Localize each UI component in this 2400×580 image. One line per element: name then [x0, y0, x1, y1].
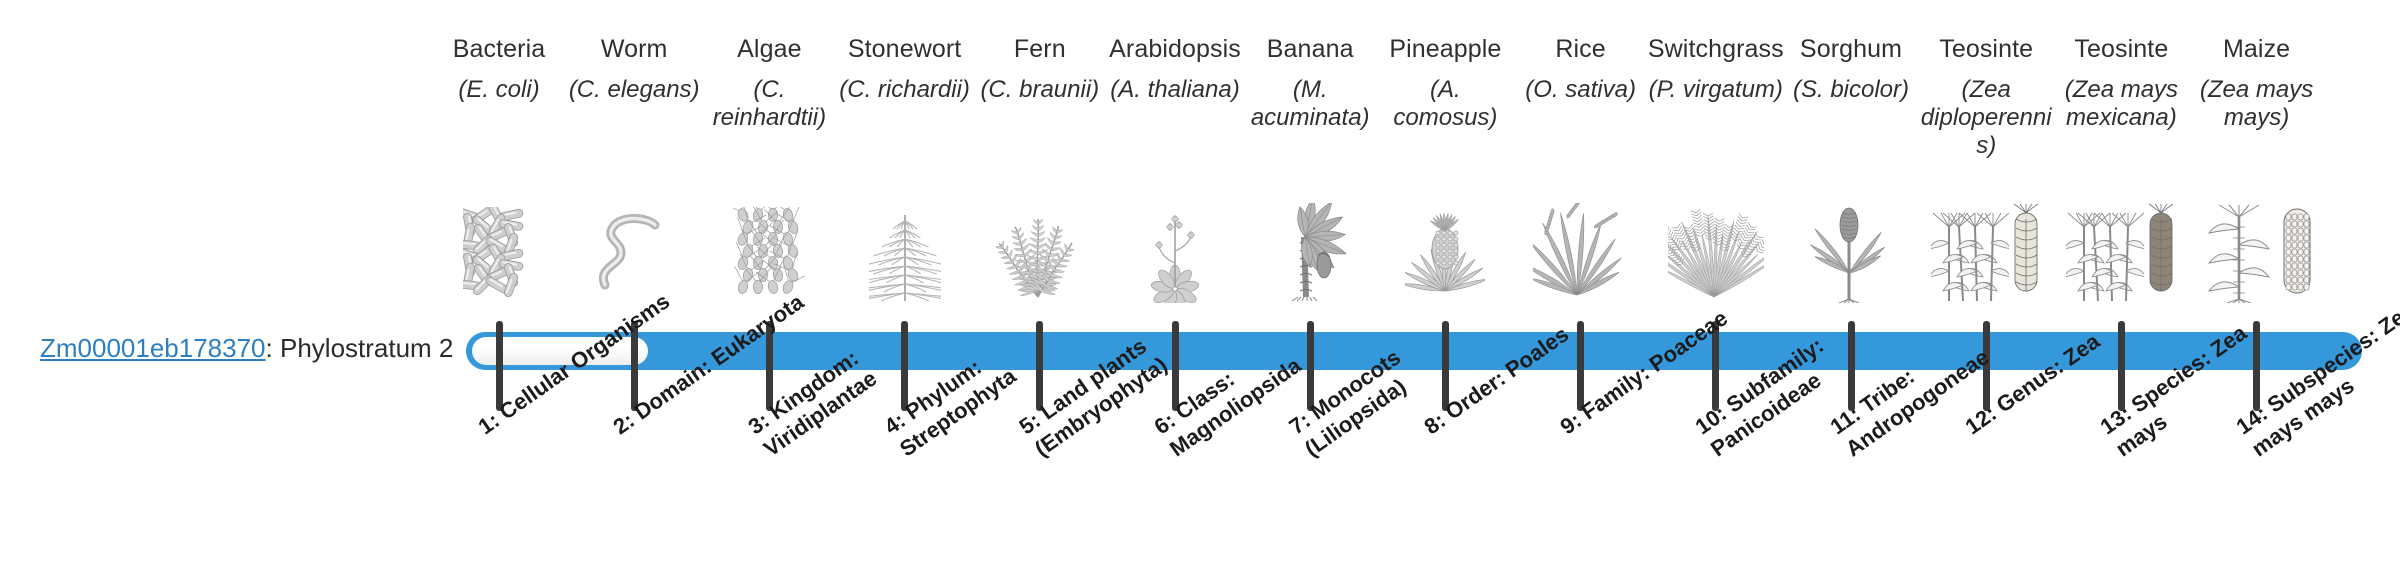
- gene-label-separator: :: [266, 333, 280, 363]
- rice-illustration: [1513, 168, 1649, 303]
- species-header-7: Banana(M. acuminata): [1242, 34, 1378, 132]
- species-header-12: Teosinte(Zea diploperennis): [1918, 34, 2054, 160]
- species-scientific-name: (S. bicolor): [1783, 76, 1919, 104]
- species-common-name: Arabidopsis: [1107, 34, 1243, 64]
- species-header-10: Switchgrass(P. virgatum): [1648, 34, 1784, 104]
- pineapple-illustration: [1377, 168, 1513, 303]
- species-scientific-name: (A. thaliana): [1107, 76, 1243, 104]
- species-common-name: Bacteria: [431, 34, 567, 64]
- species-header-9: Rice(O. sativa): [1513, 34, 1649, 104]
- algae-illustration: [701, 168, 837, 303]
- gene-phylostratum-value: Phylostratum 2: [280, 333, 453, 363]
- species-scientific-name: (M. acuminata): [1242, 76, 1378, 132]
- worm-illustration: [566, 168, 702, 303]
- species-scientific-name: (C. reinhardtii): [701, 76, 837, 132]
- species-header-5: Fern(C. braunii): [972, 34, 1108, 104]
- species-header-11: Sorghum(S. bicolor): [1783, 34, 1919, 104]
- gene-phylostratum-label: Zm00001eb178370: Phylostratum 2: [40, 333, 440, 364]
- switchgrass-illustration: [1648, 168, 1784, 303]
- species-header-3: Algae(C. reinhardtii): [701, 34, 837, 132]
- species-common-name: Switchgrass: [1648, 34, 1784, 64]
- species-header-8: Pineapple(A. comosus): [1377, 34, 1513, 132]
- species-common-name: Teosinte: [1918, 34, 2054, 64]
- species-scientific-name: (Zea mays mays): [2189, 76, 2325, 132]
- bacteria-illustration: [431, 168, 567, 303]
- phylostratum-figure: Zm00001eb178370: Phylostratum 2 Bacteria…: [0, 0, 2400, 580]
- species-scientific-name: (P. virgatum): [1648, 76, 1784, 104]
- species-common-name: Maize: [2189, 34, 2325, 64]
- species-common-name: Sorghum: [1783, 34, 1919, 64]
- species-header-13: Teosinte(Zea mays mexicana): [2053, 34, 2189, 132]
- species-scientific-name: (C. elegans): [566, 76, 702, 104]
- teosinte-mexicana-illustration: [2053, 168, 2189, 303]
- banana-illustration: [1242, 168, 1378, 303]
- species-common-name: Rice: [1513, 34, 1649, 64]
- species-common-name: Teosinte: [2053, 34, 2189, 64]
- species-header-2: Worm(C. elegans): [566, 34, 702, 104]
- fern-illustration: [972, 168, 1108, 303]
- species-common-name: Fern: [972, 34, 1108, 64]
- species-common-name: Pineapple: [1377, 34, 1513, 64]
- species-common-name: Worm: [566, 34, 702, 64]
- arabidopsis-illustration: [1107, 168, 1243, 303]
- species-common-name: Algae: [701, 34, 837, 64]
- species-header-14: Maize(Zea mays mays): [2189, 34, 2325, 132]
- species-scientific-name: (Zea diploperennis): [1918, 76, 2054, 160]
- species-scientific-name: (A. comosus): [1377, 76, 1513, 132]
- species-scientific-name: (O. sativa): [1513, 76, 1649, 104]
- teosinte-diploperennis-illustration: [1918, 168, 2054, 303]
- stonewort-illustration: [837, 168, 973, 303]
- species-common-name: Stonewort: [837, 34, 973, 64]
- gene-id-link[interactable]: Zm00001eb178370: [40, 333, 266, 363]
- maize-illustration: [2189, 168, 2325, 303]
- sorghum-illustration: [1783, 168, 1919, 303]
- species-header-4: Stonewort(C. richardii): [837, 34, 973, 104]
- species-scientific-name: (C. braunii): [972, 76, 1108, 104]
- species-header-1: Bacteria(E. coli): [431, 34, 567, 104]
- species-scientific-name: (E. coli): [431, 76, 567, 104]
- species-scientific-name: (Zea mays mexicana): [2053, 76, 2189, 132]
- species-common-name: Banana: [1242, 34, 1378, 64]
- species-scientific-name: (C. richardii): [837, 76, 973, 104]
- species-header-6: Arabidopsis(A. thaliana): [1107, 34, 1243, 104]
